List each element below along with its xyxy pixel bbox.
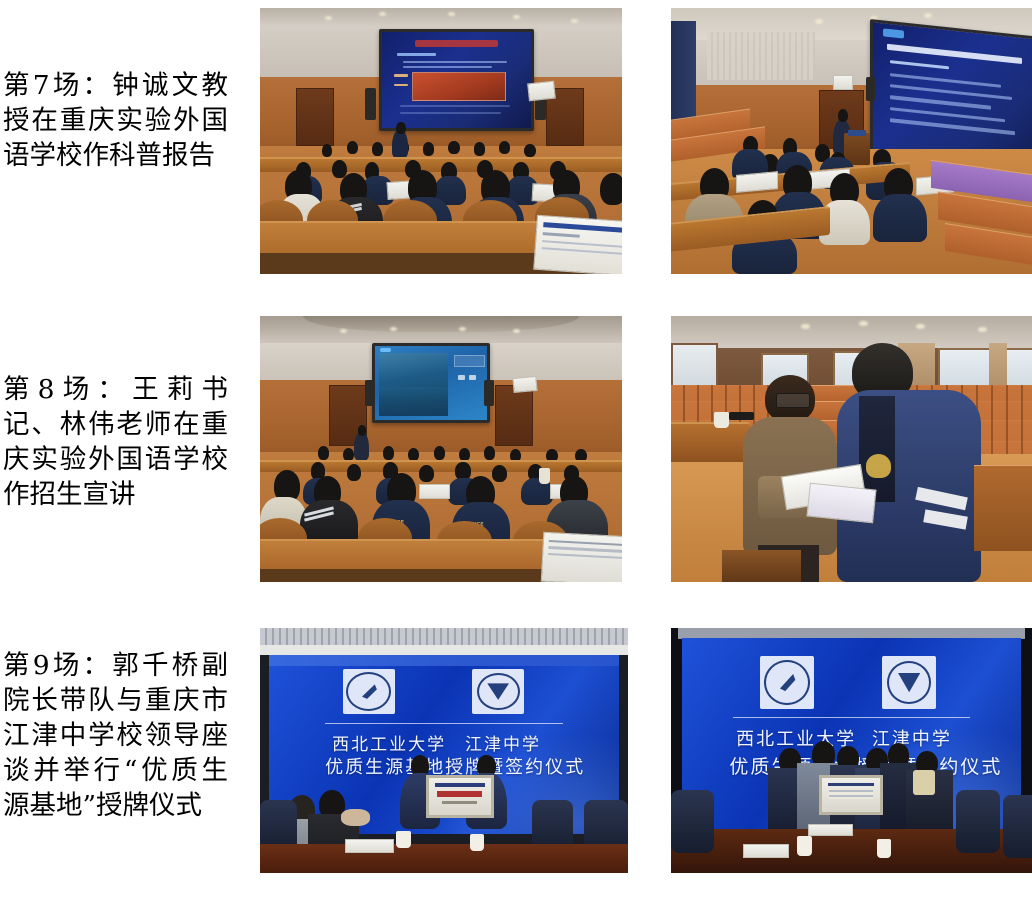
nwpu-logo [343,669,395,714]
photo-admissions-talk-hall: SINCE SINCE [260,316,622,582]
caption-session-8: 第8场：王莉书记、林伟老师在重庆实验外国语学校作招生宣讲 [3,372,228,512]
scene-lecture-hall: SINCE 1963 SINCE 1963 [260,8,622,274]
photo-plaque-presentation: 西北工业大学 江津中学 优质生源基地授牌暨签约仪式 [260,628,628,873]
award-plaque [819,775,883,815]
photo-two-teachers-discussion [671,316,1032,582]
led-university-name: 西北工业大学 [332,730,446,755]
photo-lecture-hall-rear-view: SINCE 1963 SINCE 1963 [260,8,622,274]
scene-admissions-hall: SINCE SINCE [260,316,622,582]
photo-lecture-hall-side-view [671,8,1032,274]
projection-screen [379,29,533,131]
nwpu-logo [760,656,814,709]
award-plaque [426,775,495,818]
scene-ceremony-room-b: 西北工业大学 江津中学 优质生源基地授牌暨签约仪式 [671,628,1032,873]
jacket-badge-icon [866,454,891,478]
scene-empty-auditorium [671,316,1032,582]
led-school-name: 江津中学 [872,725,952,751]
jiangjin-school-logo [882,656,936,709]
led-university-name: 西北工业大学 [736,725,856,751]
jiangjin-school-logo [472,669,524,714]
caption-session-9: 第9场：郭千桥副院长带队与重庆市江津中学校领导座谈并举行“优质生源基地”授牌仪式 [3,648,228,823]
eyeglasses-icon [776,393,810,408]
caption-session-7: 第7场：钟诚文教授在重庆实验外国语学校作科普报告 [3,68,228,173]
document-page: 第7场：钟诚文教授在重庆实验外国语学校作科普报告 [0,0,1032,910]
projection-screen [372,343,490,423]
photo-group-photo-with-plaque: 西北工业大学 江津中学 优质生源基地授牌暨签约仪式 [671,628,1032,873]
led-school-name: 江津中学 [465,730,541,755]
scene-ceremony-room-a: 西北工业大学 江津中学 优质生源基地授牌暨签约仪式 [260,628,628,873]
scene-lecture-hall-side [671,8,1032,274]
